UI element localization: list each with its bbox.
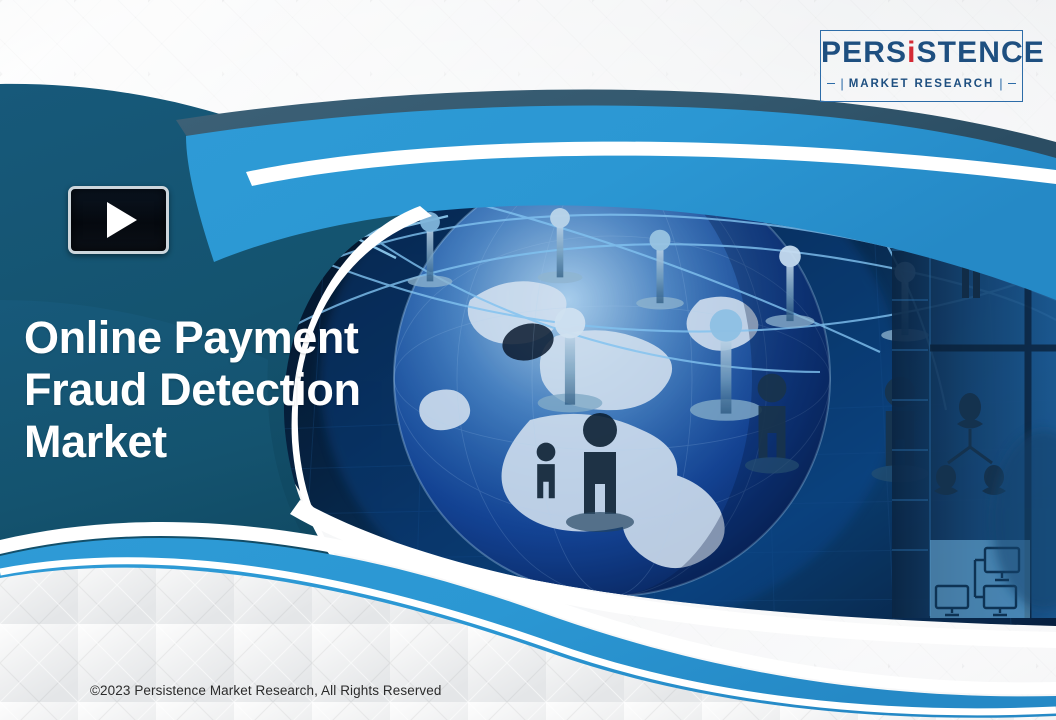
brand-wordmark: PERSiSTENCE xyxy=(821,38,1022,68)
brand-tagline-row: | MARKET RESEARCH | xyxy=(821,77,1022,90)
page-title-line-3: Market xyxy=(24,416,444,468)
tagline-rule-left xyxy=(827,83,835,84)
tagline-bracket-left: | xyxy=(840,77,843,90)
tagline-rule-right xyxy=(1008,83,1016,84)
brand-wordmark-part1: PERS xyxy=(821,36,907,69)
brand-wordmark-i: i xyxy=(907,36,916,69)
page-title-line-2: Fraud Detection xyxy=(24,364,444,416)
brand-wordmark-part2: STENCE xyxy=(917,36,1045,69)
play-triangle-icon xyxy=(107,202,137,238)
page-title-line-1: Online Payment xyxy=(24,312,444,364)
brand-tagline: MARKET RESEARCH xyxy=(849,78,994,90)
page-title: Online Payment Fraud Detection Market xyxy=(24,312,444,469)
copyright-footer: ©2023 Persistence Market Research, All R… xyxy=(90,683,442,698)
report-cover-slide: Online Payment Fraud Detection Market PE… xyxy=(0,0,1056,720)
tagline-bracket-right: | xyxy=(999,77,1002,90)
brand-logo[interactable]: PERSiSTENCE | MARKET RESEARCH | xyxy=(820,30,1023,102)
play-button[interactable] xyxy=(68,186,169,254)
